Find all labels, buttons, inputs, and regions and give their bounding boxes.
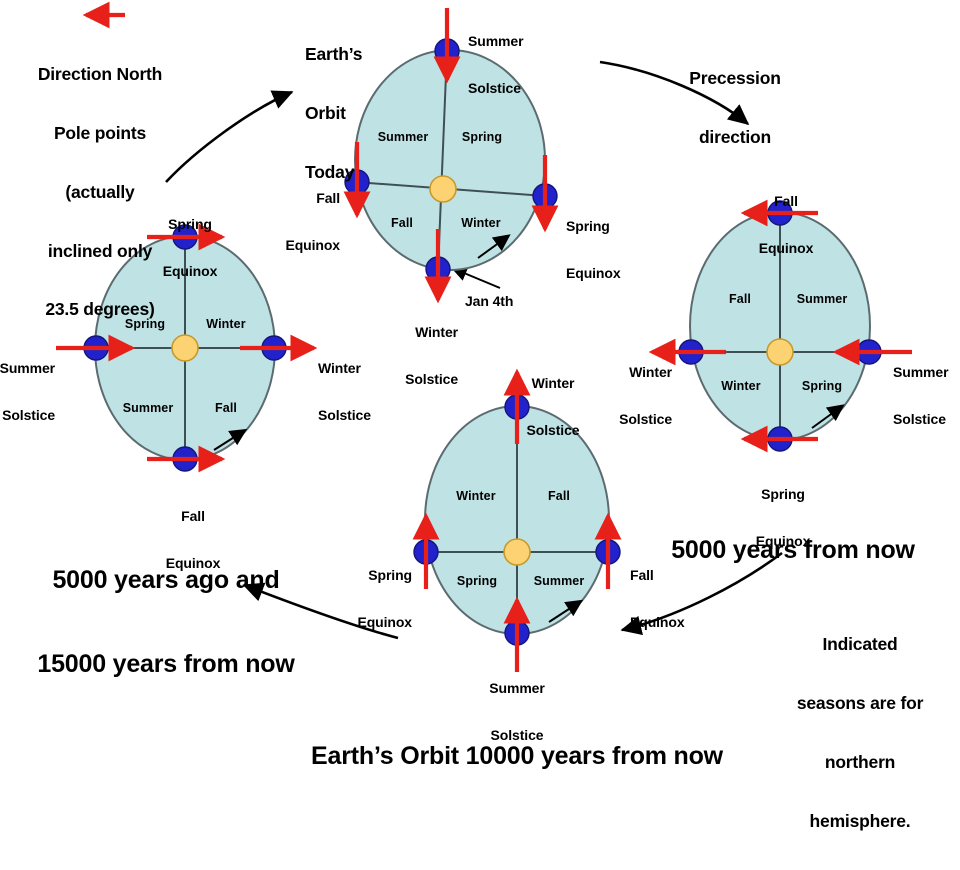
orbit-plus5000-quadrant-lower-right: Spring [802, 379, 842, 393]
orbit-plus10000-quadrant-upper-left: Winter [456, 489, 495, 503]
orbit-plus5000-quadrant-upper-right: Summer [797, 292, 848, 306]
orbit-today-node-right-label: Spring Equinox [566, 188, 676, 313]
sun [430, 176, 456, 202]
orbit-plus10000-quadrant-lower-left: Spring [457, 574, 497, 588]
orbit-plus10000-caption: Earth’s Orbit 10000 years from now [267, 686, 767, 826]
jan-4th-leader [452, 268, 500, 288]
diagram-canvas: Direction North Pole points (actually in… [0, 0, 960, 720]
orbit-plus10000-node-left-label: Spring Equinox [302, 537, 412, 662]
orbit-minus5000-quadrant-lower-left: Summer [123, 401, 174, 415]
orbit-plus10000-quadrant-upper-right: Fall [548, 489, 570, 503]
sun [767, 339, 793, 365]
orbit-today-node-top-label: Summer Solstice [468, 3, 588, 128]
orbit-minus5000-node-left-label: Summer Solstice [0, 330, 55, 455]
orbit-plus5000-quadrant-upper-left: Fall [729, 292, 751, 306]
orbit-minus5000-quadrant-upper-left: Spring [125, 317, 165, 331]
orbit-today-quadrant-upper-left: Summer [378, 130, 429, 144]
orbit-today-quadrant-upper-right: Spring [462, 130, 502, 144]
orbit-today-quadrant-lower-left: Fall [391, 216, 413, 230]
orbit-plus10000-quadrant-lower-right: Summer [534, 574, 585, 588]
orbit-plus5000-node-top-label: Fall Equinox [726, 163, 846, 288]
orbit-minus5000-quadrant-lower-right: Fall [215, 401, 237, 415]
orbit-minus5000-node-top-label: Spring Equinox [130, 186, 250, 311]
orbit-plus5000-quadrant-lower-left: Winter [721, 379, 760, 393]
orbit-minus5000-node-right-label: Winter Solstice [318, 330, 428, 455]
orbit-today-quadrant-lower-right: Winter [461, 216, 500, 230]
orbit-minus5000-quadrant-upper-right: Winter [206, 317, 245, 331]
orbit-plus10000-node-right-label: Fall Equinox [630, 537, 740, 662]
hemisphere-note: Indicated seasons are for northern hemis… [755, 596, 960, 870]
sun [504, 539, 530, 565]
jan-4th-label: Jan 4th [465, 294, 513, 310]
orbit-plus5000-node-right-label: Summer Solstice [893, 334, 960, 459]
orbit-plus10000-node-top-label: Winter Solstice [493, 345, 613, 470]
